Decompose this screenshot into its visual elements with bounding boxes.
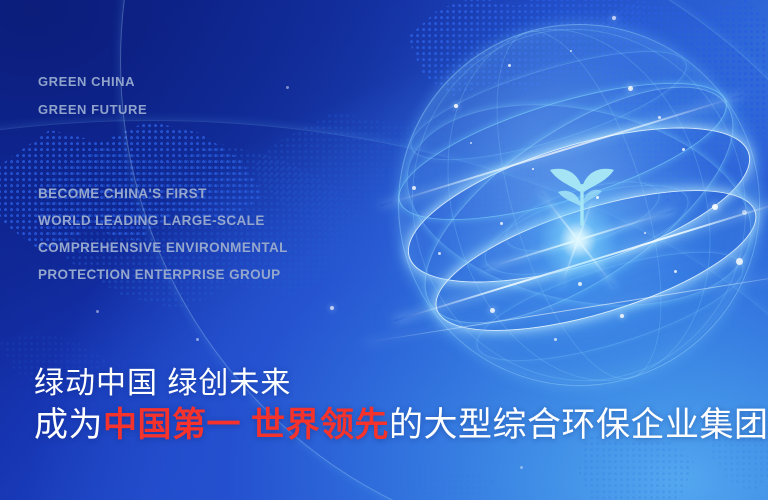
promo-banner: GREEN CHINA GREEN FUTURE BECOME CHINA'S …: [0, 0, 768, 500]
particle: [674, 270, 677, 273]
particle: [658, 116, 661, 119]
particle: [736, 258, 743, 265]
particle: [96, 310, 99, 313]
slogan-line-4: PROTECTION ENTERPRISE GROUP: [38, 267, 281, 282]
slogan-line-1: BECOME CHINA'S FIRST: [38, 186, 207, 201]
particle: [196, 338, 199, 341]
particle: [500, 222, 503, 225]
particle: [330, 306, 334, 310]
headline-prefix: 成为: [34, 406, 103, 444]
particle: [520, 466, 523, 469]
particle: [412, 186, 416, 190]
particle: [532, 168, 534, 170]
particle: [596, 196, 599, 199]
particle: [554, 338, 557, 341]
eyebrow-line-1: GREEN CHINA: [38, 74, 135, 89]
slogan-line-3: COMPREHENSIVE ENVIRONMENTAL: [38, 240, 288, 255]
particle: [454, 104, 458, 108]
particle: [490, 308, 495, 313]
particle: [742, 210, 747, 215]
particle: [470, 142, 472, 144]
particle: [682, 148, 685, 151]
particle: [712, 204, 718, 210]
particle: [508, 64, 511, 67]
eyebrow-line-2: GREEN FUTURE: [38, 102, 147, 117]
particle: [612, 16, 616, 20]
headline-line-2: 成为中国第一 世界领先的大型综合环保企业集团: [34, 404, 768, 446]
particle: [570, 50, 572, 52]
slogan-line-2: WORLD LEADING LARGE-SCALE: [38, 213, 265, 228]
particle: [286, 86, 289, 89]
particle: [644, 232, 646, 234]
headline-line-1: 绿动中国 绿创未来: [34, 366, 768, 402]
headline-emphasis: 中国第一 世界领先: [103, 406, 389, 444]
globe-graphic: [382, 8, 768, 400]
particle: [620, 314, 624, 318]
particle: [438, 252, 441, 255]
headline-suffix: 的大型综合环保企业集团: [389, 406, 768, 444]
particle: [628, 86, 633, 91]
sprout-icon: [542, 148, 622, 232]
headline: 绿动中国 绿创未来 成为中国第一 世界领先的大型综合环保企业集团: [34, 366, 768, 446]
particle: [578, 282, 582, 286]
